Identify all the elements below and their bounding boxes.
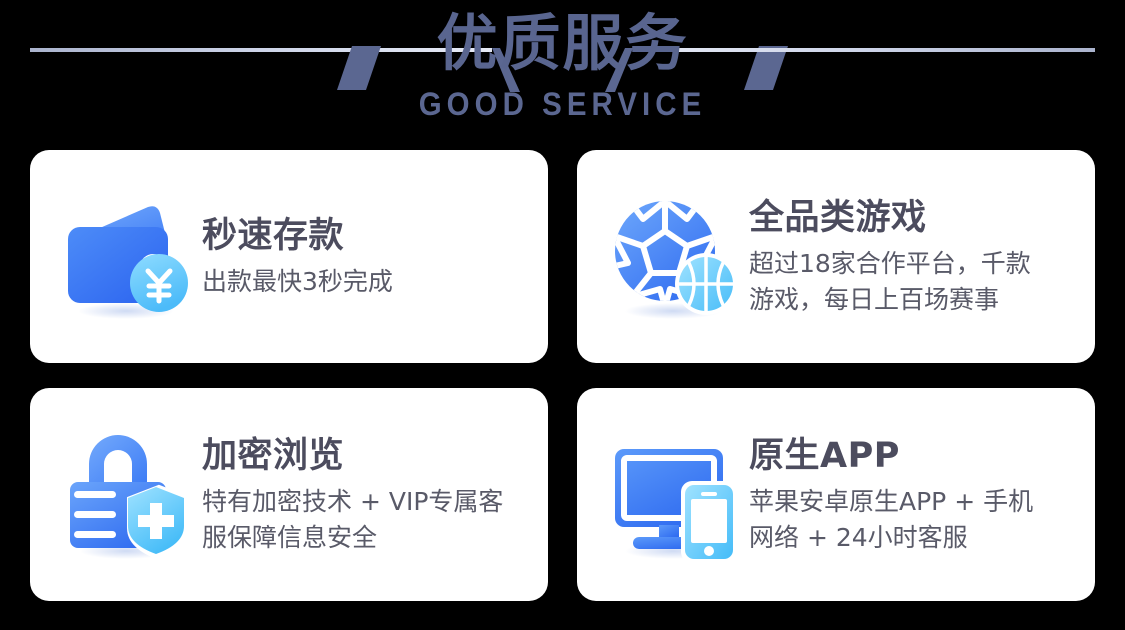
card-description: 出款最快3秒完成 (202, 264, 534, 300)
yen-coin-badge (60, 189, 196, 325)
basketball-icon (607, 189, 743, 325)
feature-card-games[interactable]: 全品类游戏 超过18家合作平台，千款 游戏，每日上百场赛事 (577, 150, 1095, 363)
card-desc-line-2: 网络 + 24小时客服 (749, 520, 1081, 556)
card-title: 加密浏览 (202, 434, 534, 478)
card-desc-line-1: 出款最快3秒完成 (202, 267, 393, 296)
card-description: 特有加密技术 + VIP专属客 服保障信息安全 (202, 484, 534, 556)
card-desc-line-1: 苹果安卓原生APP + 手机 (749, 487, 1033, 516)
feature-card-deposit[interactable]: 秒速存款 出款最快3秒完成 (30, 150, 548, 363)
card-text-block: 原生APP 苹果安卓原生APP + 手机 网络 + 24小时客服 (743, 434, 1095, 556)
page-header: 优质服务 GOOD SERVICE (0, 0, 1125, 148)
card-title: 全品类游戏 (749, 196, 1081, 240)
card-description: 超过18家合作平台，千款 游戏，每日上百场赛事 (749, 246, 1081, 318)
card-text-block: 全品类游戏 超过18家合作平台，千款 游戏，每日上百场赛事 (743, 196, 1095, 318)
page-title-cn: 优质服务 (0, 8, 1125, 80)
card-text-block: 加密浏览 特有加密技术 + VIP专属客 服保障信息安全 (196, 434, 548, 556)
wallet-icon (60, 189, 196, 325)
card-desc-line-1: 超过18家合作平台，千款 (749, 249, 1031, 278)
header-title-block: 优质服务 GOOD SERVICE (0, 8, 1125, 122)
page-title-en: GOOD SERVICE (45, 86, 1080, 122)
card-desc-line-2: 游戏，每日上百场赛事 (749, 282, 1081, 318)
smartphone-icon (607, 427, 743, 563)
card-description: 苹果安卓原生APP + 手机 网络 + 24小时客服 (749, 484, 1081, 556)
card-desc-line-2: 服保障信息安全 (202, 520, 534, 556)
card-text-block: 秒速存款 出款最快3秒完成 (196, 214, 548, 300)
card-desc-line-1: 特有加密技术 + VIP专属客 (202, 487, 503, 516)
card-title: 原生APP (749, 434, 1081, 478)
monitor-icon (607, 427, 743, 563)
shield-cross-icon (60, 427, 196, 563)
feature-card-encryption[interactable]: 加密浏览 特有加密技术 + VIP专属客 服保障信息安全 (30, 388, 548, 601)
feature-card-native-app[interactable]: 原生APP 苹果安卓原生APP + 手机 网络 + 24小时客服 (577, 388, 1095, 601)
card-title: 秒速存款 (202, 214, 534, 258)
soccer-ball-icon (607, 189, 743, 325)
padlock-icon (60, 427, 196, 563)
feature-card-grid: 秒速存款 出款最快3秒完成 (30, 150, 1095, 601)
